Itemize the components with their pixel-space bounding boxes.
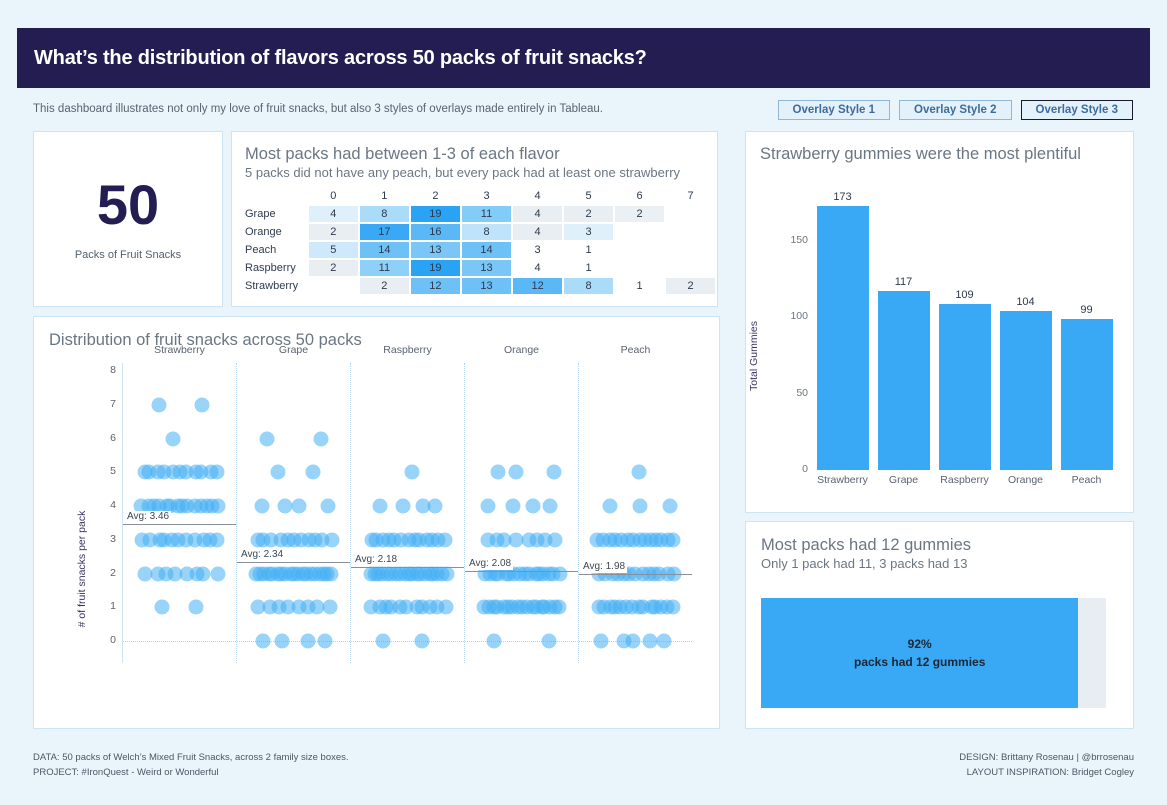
scatter-dot — [210, 532, 225, 547]
heatmap-col-header: 2 — [411, 190, 460, 204]
scatter-dot — [551, 600, 566, 615]
heatmap-row-label: Strawberry — [245, 278, 307, 294]
heatmap-cell[interactable]: 13 — [462, 260, 511, 276]
scatter-panel: RaspberryAvg: 2.18 — [350, 363, 464, 663]
scatter-dot — [486, 634, 501, 649]
heatmap-cell[interactable]: 14 — [360, 242, 409, 258]
dashboard-description: This dashboard illustrates not only my l… — [33, 103, 603, 115]
overlay-style-1-button[interactable]: Overlay Style 1 — [778, 100, 890, 120]
scatter-panel: OrangeAvg: 2.08 — [464, 363, 578, 663]
heatmap-cell[interactable] — [666, 206, 715, 222]
scatter-dot — [631, 465, 646, 480]
scatter-y-axis-label: # of fruit snacks per pack — [76, 511, 88, 628]
scatter-dot — [490, 465, 505, 480]
footer: DATA: 50 packs of Welch’s Mixed Fruit Sn… — [33, 750, 1134, 790]
scatter-panel: PeachAvg: 1.98 — [578, 363, 692, 663]
scatter-zero-gridline — [123, 641, 236, 642]
scatter-dot — [548, 532, 563, 547]
overlay-style-button-group: Overlay Style 1 Overlay Style 2 Overlay … — [778, 100, 1133, 120]
footer-right: DESIGN: Brittany Rosenau | @brrosenau LA… — [959, 750, 1134, 780]
heatmap-cell[interactable]: 3 — [564, 224, 613, 240]
scatter-zero-gridline — [465, 641, 578, 642]
scatter-panel-title: Peach — [579, 344, 692, 356]
heatmap-corner — [245, 190, 307, 204]
scatter-dot — [395, 499, 410, 514]
scatter-dot — [542, 499, 557, 514]
scatter-dot — [274, 634, 289, 649]
heatmap-cell[interactable]: 17 — [360, 224, 409, 240]
scatter-dot — [666, 532, 681, 547]
scatter-average-line — [351, 567, 464, 568]
scatter-y-tick: 4 — [90, 499, 116, 511]
scatter-dot — [314, 431, 329, 446]
progress-fill: 92% packs had 12 gummies — [761, 598, 1078, 708]
scatter-panel-title: Grape — [237, 344, 350, 356]
scatter-panel: StrawberryAvg: 3.46 — [122, 363, 236, 663]
heatmap-cell[interactable]: 12 — [411, 278, 460, 294]
bar-column[interactable]: 173 — [817, 206, 869, 470]
scatter-panel-title: Raspberry — [351, 344, 464, 356]
scatter-average-label: Avg: 2.08 — [467, 558, 513, 570]
subtitle-row: This dashboard illustrates not only my l… — [33, 100, 1133, 124]
heatmap-cell[interactable]: 2 — [666, 278, 715, 294]
header-band: What’s the distribution of flavors acros… — [17, 28, 1150, 88]
scatter-card: Distribution of fruit snacks across 50 p… — [33, 316, 720, 729]
footer-left: DATA: 50 packs of Welch’s Mixed Fruit Sn… — [33, 750, 349, 780]
scatter-dot — [414, 634, 429, 649]
heatmap-row: Orange21716843 — [245, 224, 715, 240]
bar-y-tick: 150 — [776, 234, 808, 246]
scatter-y-tick: 0 — [90, 634, 116, 646]
scatter-dot — [405, 465, 420, 480]
heatmap-col-header: 4 — [513, 190, 562, 204]
scatter-dot — [322, 600, 337, 615]
heatmap-col-header: 1 — [360, 190, 409, 204]
bar-column[interactable]: 117 — [878, 291, 930, 470]
scatter-y-axis-ticks: 876543210 — [90, 363, 116, 663]
scatter-dot — [152, 397, 167, 412]
scatter-dot — [633, 499, 648, 514]
kpi-label: Packs of Fruit Snacks — [75, 249, 181, 261]
scatter-panel-title: Orange — [465, 344, 578, 356]
progress-card: Most packs had 12 gummies Only 1 pack ha… — [745, 521, 1134, 729]
heatmap-cell[interactable]: 2 — [309, 224, 358, 240]
heatmap-cell[interactable]: 8 — [360, 206, 409, 222]
scatter-dot — [318, 634, 333, 649]
scatter-dot — [324, 532, 339, 547]
scatter-dot — [428, 499, 443, 514]
scatter-dot — [210, 566, 225, 581]
heatmap-cell[interactable] — [615, 260, 664, 276]
heatmap-cell[interactable] — [309, 278, 358, 294]
bar-rect[interactable]: 104 — [1000, 311, 1052, 470]
heatmap-cell[interactable] — [615, 242, 664, 258]
heatmap-cell[interactable]: 4 — [309, 206, 358, 222]
heatmap-row: Grape481911422 — [245, 206, 715, 222]
bar-rect[interactable]: 173 — [817, 206, 869, 470]
bar-chart-card: Strawberry gummies were the most plentif… — [745, 131, 1134, 513]
bar-y-tick: 100 — [776, 310, 808, 322]
scatter-dot — [376, 634, 391, 649]
scatter-average-line — [465, 571, 578, 572]
heatmap-cell[interactable]: 16 — [411, 224, 460, 240]
bar-rect[interactable]: 109 — [939, 304, 991, 470]
bar-rect[interactable]: 117 — [878, 291, 930, 470]
scatter-dot — [506, 499, 521, 514]
heatmap-cell[interactable]: 14 — [462, 242, 511, 258]
heatmap-cell[interactable]: 4 — [513, 224, 562, 240]
bars-area: 173Strawberry117Grape109Raspberry104Oran… — [812, 180, 1117, 470]
scatter-y-tick: 8 — [90, 364, 116, 376]
bar-rect[interactable]: 99 — [1061, 319, 1113, 470]
scatter-dot — [321, 499, 336, 514]
scatter-dot — [278, 499, 293, 514]
heatmap-row-label: Peach — [245, 242, 307, 258]
heatmap-title: Most packs had between 1-3 of each flavo… — [245, 145, 717, 164]
bar-y-axis-label: Total Gummies — [748, 321, 760, 391]
kpi-card: 50 Packs of Fruit Snacks — [33, 131, 223, 307]
heatmap-row: Raspberry211191341 — [245, 260, 715, 276]
scatter-dot — [662, 499, 677, 514]
heatmap-cell[interactable]: 13 — [411, 242, 460, 258]
bar-chart-title: Strawberry gummies were the most plentif… — [760, 145, 1133, 164]
scatter-dot — [553, 566, 568, 581]
heatmap-cell[interactable]: 2 — [564, 206, 613, 222]
footer-project-line: PROJECT: #IronQuest - Weird or Wonderful — [33, 765, 349, 780]
scatter-dot — [209, 465, 224, 480]
overlay-style-3-button[interactable]: Overlay Style 3 — [1021, 100, 1133, 120]
scatter-dot — [211, 499, 226, 514]
scatter-y-tick: 5 — [90, 465, 116, 477]
progress-track: 92% packs had 12 gummies — [761, 598, 1106, 708]
scatter-dot — [657, 634, 672, 649]
overlay-style-2-button[interactable]: Overlay Style 2 — [899, 100, 1011, 120]
scatter-y-tick: 6 — [90, 432, 116, 444]
heatmap-cell[interactable] — [666, 242, 715, 258]
heatmap-row-label: Raspberry — [245, 260, 307, 276]
scatter-dot — [438, 532, 453, 547]
scatter-average-line — [579, 574, 692, 575]
bar-value-label: 99 — [1061, 304, 1113, 319]
bar-value-label: 117 — [878, 276, 930, 291]
progress-percent: 92% — [908, 637, 932, 651]
heatmap-subtitle: 5 packs did not have any peach, but ever… — [245, 165, 717, 180]
heatmap-col-header: 7 — [666, 190, 715, 204]
scatter-dot — [195, 566, 210, 581]
heatmap-cell[interactable] — [666, 224, 715, 240]
bar-y-tick: 0 — [776, 463, 808, 475]
progress-title: Most packs had 12 gummies — [761, 536, 1133, 555]
scatter-dot — [546, 465, 561, 480]
scatter-dot — [305, 465, 320, 480]
heatmap-cell[interactable]: 2 — [615, 206, 664, 222]
scatter-dot — [438, 600, 453, 615]
scatter-dot — [188, 600, 203, 615]
heatmap-cell[interactable]: 11 — [462, 206, 511, 222]
heatmap-row: Strawberry2121312812 — [245, 278, 715, 294]
scatter-dot — [542, 634, 557, 649]
heatmap-cell[interactable]: 1 — [564, 242, 613, 258]
footer-design-line: DESIGN: Brittany Rosenau | @brrosenau — [959, 750, 1134, 765]
bar-value-label: 109 — [939, 289, 991, 304]
scatter-dot — [324, 566, 339, 581]
heatmap-cell[interactable]: 5 — [309, 242, 358, 258]
bar-column[interactable]: 104 — [1000, 311, 1052, 470]
heatmap-cell[interactable]: 4 — [513, 206, 562, 222]
scatter-dot — [259, 431, 274, 446]
scatter-dot — [300, 634, 315, 649]
bar-chart-plot: Total Gummies 050100150 173Strawberry117… — [746, 180, 1135, 514]
scatter-panel: GrapeAvg: 2.34 — [236, 363, 350, 663]
scatter-dot — [256, 634, 271, 649]
heatmap-header-row: 01234567 — [245, 190, 715, 204]
heatmap-cell[interactable]: 4 — [513, 260, 562, 276]
heatmap-col-header: 0 — [309, 190, 358, 204]
scatter-dot — [292, 499, 307, 514]
scatter-y-tick: 1 — [90, 600, 116, 612]
scatter-dot — [525, 499, 540, 514]
heatmap-cell[interactable] — [615, 224, 664, 240]
scatter-dot — [372, 499, 387, 514]
page-title: What’s the distribution of flavors acros… — [17, 47, 647, 70]
scatter-panels: StrawberryAvg: 3.46GrapeAvg: 2.34Raspber… — [122, 363, 692, 663]
heatmap-row: Peach514131431 — [245, 242, 715, 258]
heatmap-table: 01234567 Grape481911422Orange21716843Pea… — [243, 188, 717, 296]
scatter-dot — [625, 634, 640, 649]
heatmap-cell[interactable]: 1 — [564, 260, 613, 276]
bar-y-tick: 50 — [776, 387, 808, 399]
scatter-y-tick: 7 — [90, 398, 116, 410]
heatmap-cell[interactable]: 19 — [411, 206, 460, 222]
scatter-dot — [642, 634, 657, 649]
scatter-zero-gridline — [351, 641, 464, 642]
heatmap-cell[interactable] — [666, 260, 715, 276]
heatmap-cell[interactable]: 8 — [462, 224, 511, 240]
scatter-average-label: Avg: 2.34 — [239, 549, 285, 561]
kpi-value: 50 — [97, 177, 159, 233]
heatmap-cell[interactable]: 12 — [513, 278, 562, 294]
footer-data-line: DATA: 50 packs of Welch’s Mixed Fruit Sn… — [33, 750, 349, 765]
heatmap-cell[interactable]: 11 — [360, 260, 409, 276]
heatmap-row-label: Orange — [245, 224, 307, 240]
scatter-dot — [271, 465, 286, 480]
bar-y-axis-ticks: 050100150 — [772, 180, 808, 470]
progress-caption: packs had 12 gummies — [854, 655, 985, 669]
progress-text: 92% packs had 12 gummies — [761, 635, 1078, 671]
heatmap-row-label: Grape — [245, 206, 307, 222]
heatmap-cell[interactable]: 13 — [462, 278, 511, 294]
bar-value-label: 104 — [1000, 296, 1052, 311]
progress-subtitle: Only 1 pack had 11, 3 packs had 13 — [761, 556, 1133, 571]
bar-x-tick-label: Peach — [1051, 474, 1123, 486]
scatter-average-label: Avg: 2.18 — [353, 554, 399, 566]
heatmap-cell[interactable]: 2 — [309, 260, 358, 276]
heatmap-col-header: 5 — [564, 190, 613, 204]
scatter-dot — [665, 600, 680, 615]
bar-value-label: 173 — [817, 191, 869, 206]
scatter-dot — [254, 499, 269, 514]
scatter-dot — [509, 465, 524, 480]
scatter-y-tick: 2 — [90, 567, 116, 579]
heatmap-cell[interactable]: 2 — [360, 278, 409, 294]
scatter-plot: # of fruit snacks per pack 876543210 Str… — [34, 363, 721, 730]
heatmap-cell[interactable]: 19 — [411, 260, 460, 276]
scatter-dot — [155, 600, 170, 615]
scatter-dot — [593, 634, 608, 649]
scatter-panel-title: Strawberry — [123, 344, 236, 356]
heatmap-col-header: 6 — [615, 190, 664, 204]
scatter-dot — [602, 499, 617, 514]
scatter-average-line — [123, 524, 236, 525]
scatter-zero-gridline — [237, 641, 350, 642]
heatmap-card: Most packs had between 1-3 of each flavo… — [231, 131, 718, 307]
scatter-dot — [165, 431, 180, 446]
scatter-dot — [481, 499, 496, 514]
scatter-average-label: Avg: 3.46 — [125, 511, 171, 523]
scatter-dot — [194, 397, 209, 412]
heatmap-cell[interactable]: 1 — [615, 278, 664, 294]
scatter-average-line — [237, 562, 350, 563]
scatter-average-label: Avg: 1.98 — [581, 561, 627, 573]
scatter-y-tick: 3 — [90, 533, 116, 545]
footer-layout-line: LAYOUT INSPIRATION: Bridget Cogley — [959, 765, 1134, 780]
heatmap-col-header: 3 — [462, 190, 511, 204]
bar-column[interactable]: 109 — [939, 304, 991, 470]
bar-column[interactable]: 99 — [1061, 319, 1113, 470]
heatmap-cell[interactable]: 8 — [564, 278, 613, 294]
heatmap-cell[interactable]: 3 — [513, 242, 562, 258]
